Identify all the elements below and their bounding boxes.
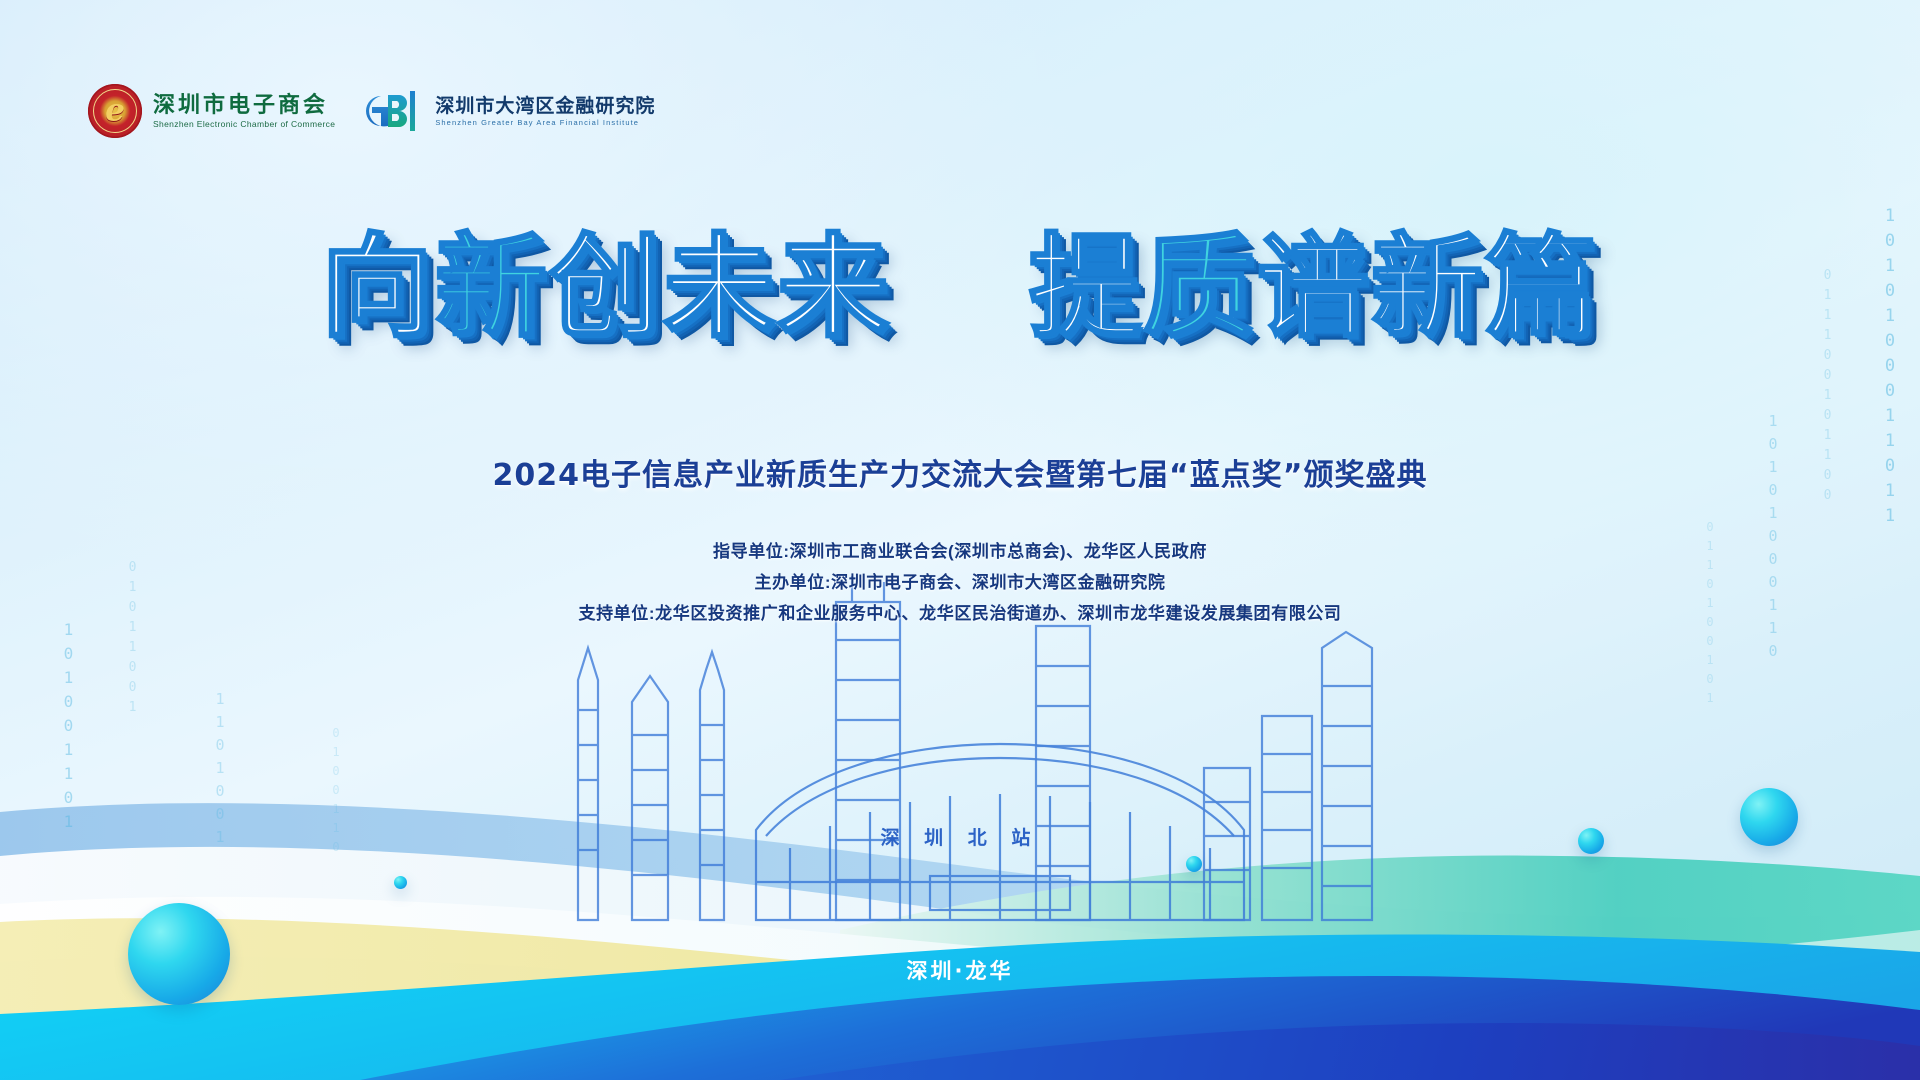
title-char-篇: 篇 (1485, 232, 1599, 344)
banner-canvas: 1010100011011 011100101100 10101000110 0… (0, 0, 1920, 1080)
title-char-新: 新 (1371, 232, 1485, 344)
logo-institute-name-cn: 深圳市大湾区金融研究院 (435, 96, 655, 117)
main-title: 向新创未来 提质谱新篇 (0, 232, 1920, 344)
decor-sphere-large (128, 903, 230, 1005)
logo-chamber-name-cn: 深圳市电子商会 (153, 94, 335, 118)
logo-shenzhen-electronic-chamber: e 深圳市电子商会 Shenzhen Electronic Chamber of… (88, 84, 335, 138)
gbi-mark-icon (361, 91, 415, 131)
station-label: 深 圳 北 站 (0, 823, 1920, 850)
sponsor-logo-bar: e 深圳市电子商会 Shenzhen Electronic Chamber of… (88, 84, 655, 138)
binary-decor-4: 101001101 (60, 620, 76, 836)
title-char-谱: 谱 (1257, 232, 1371, 344)
event-subtitle: 2024电子信息产业新质生产力交流大会暨第七届“蓝点奖”颁奖盛典 (0, 450, 1920, 494)
seal-letter: e (88, 96, 142, 127)
decor-sphere-xs (394, 876, 407, 889)
organiser-block: 指导单位:深圳市工商业联合会(深圳市总商会)、龙华区人民政府 主办单位:深圳市电… (0, 536, 1920, 629)
organiser-support: 支持单位:龙华区投资推广和企业服务中心、龙华区民治街道办、深圳市龙华建设发展集团… (0, 598, 1920, 629)
title-char-创: 创 (549, 232, 663, 344)
gbi-accent-bar (410, 91, 415, 131)
logo-institute-name-en: Shenzhen Greater Bay Area Financial Inst… (435, 119, 655, 127)
chamber-seal-icon: e (88, 84, 142, 138)
logo-gba-financial-institute: 深圳市大湾区金融研究院 Shenzhen Greater Bay Area Fi… (361, 91, 655, 131)
title-char-质: 质 (1143, 232, 1257, 344)
main-title-part-a: 向新创未来 (321, 223, 891, 353)
title-char-未: 未 (663, 232, 777, 344)
title-char-新: 新 (435, 232, 549, 344)
decor-sphere-tiny (1186, 856, 1202, 872)
title-char-向: 向 (321, 232, 435, 344)
gbi-gb-glyph (361, 91, 407, 131)
organiser-guidance: 指导单位:深圳市工商业联合会(深圳市总商会)、龙华区人民政府 (0, 536, 1920, 567)
place-label: 深圳·龙华 (0, 955, 1920, 985)
title-char-提: 提 (1029, 232, 1143, 344)
logo-chamber-name-en: Shenzhen Electronic Chamber of Commerce (153, 120, 335, 129)
organiser-host: 主办单位:深圳市电子商会、深圳市大湾区金融研究院 (0, 567, 1920, 598)
main-title-part-b: 提质谱新篇 (1029, 223, 1599, 353)
title-char-来: 来 (777, 232, 891, 344)
